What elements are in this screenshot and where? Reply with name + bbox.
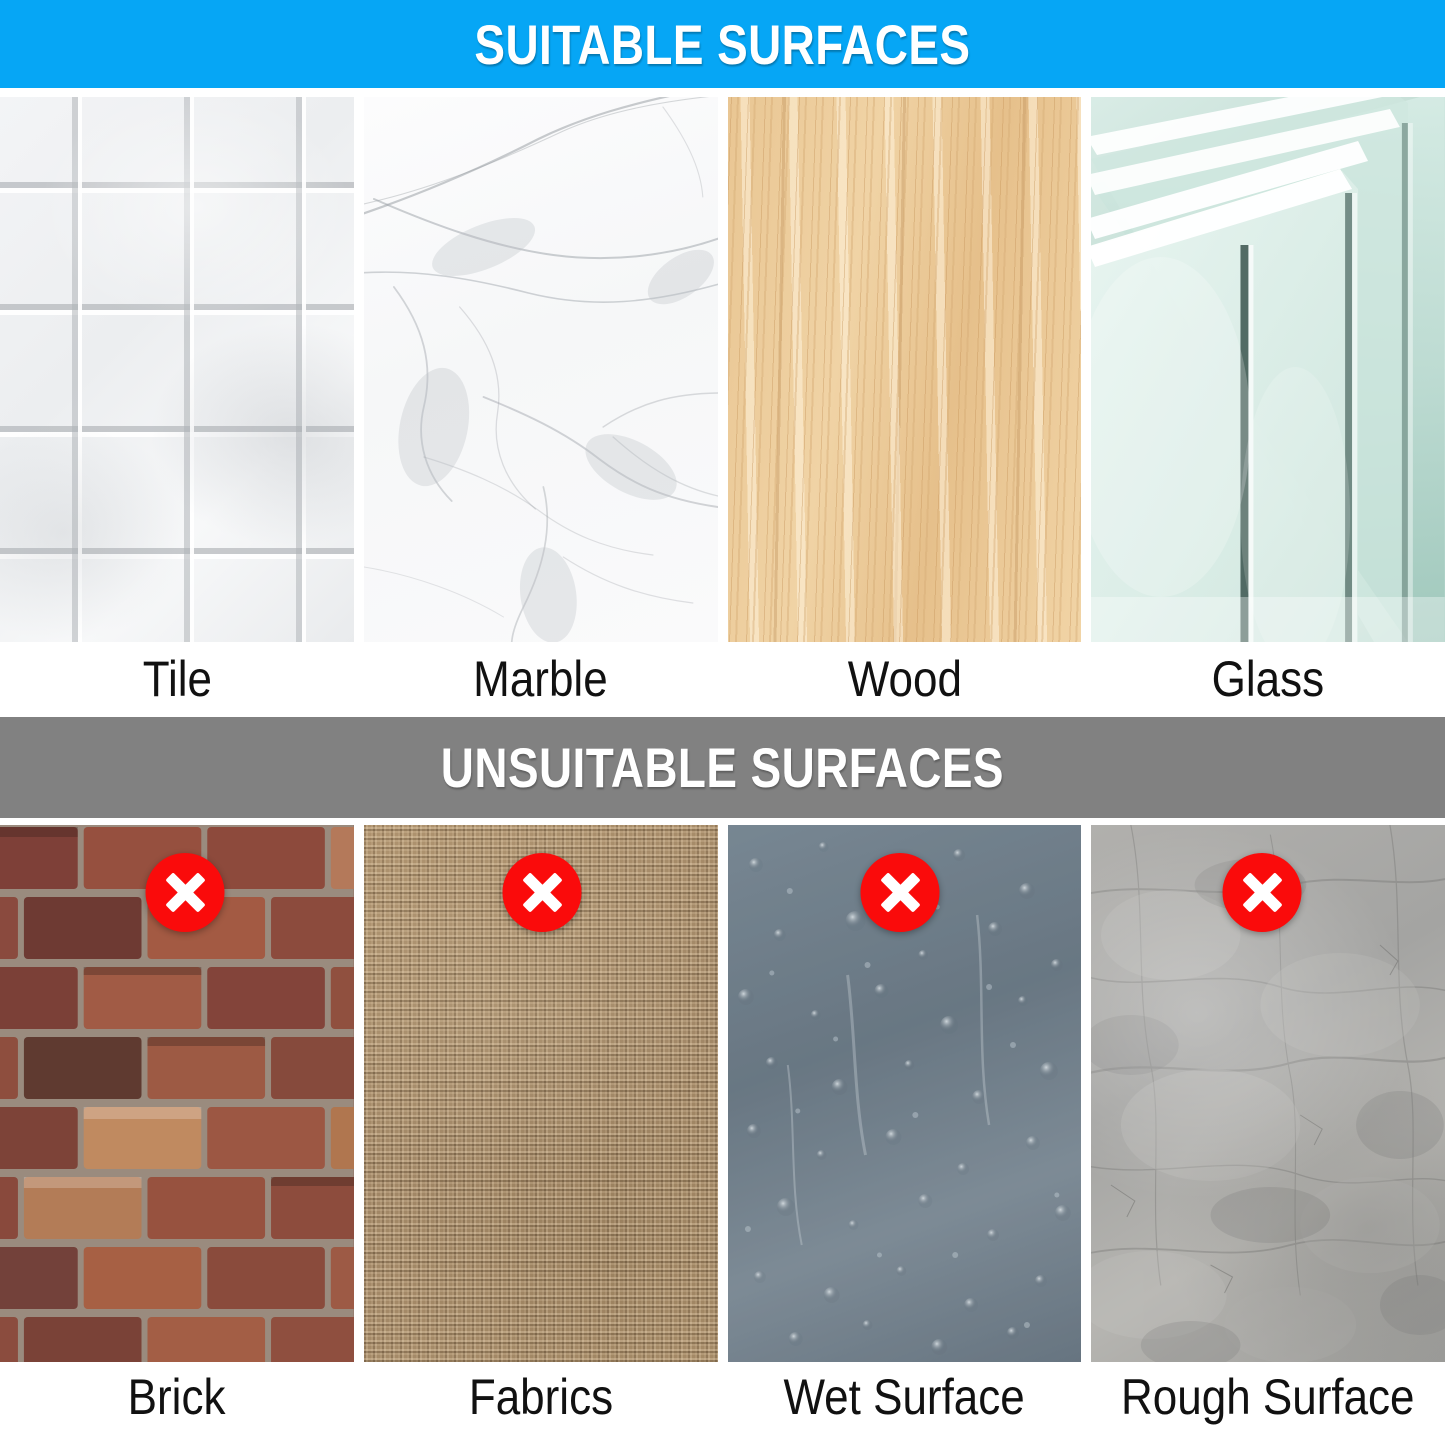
glass-panes: [1091, 97, 1445, 642]
label-text: Marble: [473, 654, 608, 704]
marble-veins: [364, 97, 718, 642]
x-mark-icon-fabrics: [503, 853, 582, 932]
label-text: Fabrics: [468, 1372, 612, 1422]
surface-label-marble: Marble: [364, 645, 718, 713]
label-text: Wood: [847, 654, 961, 704]
unsuitable-banner-title: UNSUITABLE SURFACES: [441, 735, 1004, 800]
surface-label-wood: Wood: [728, 645, 1082, 713]
suitable-image-row: [0, 97, 1445, 642]
suitable-label-row: Tile Marble Wood Glass: [0, 645, 1445, 713]
label-text: Glass: [1212, 654, 1324, 704]
surface-label-fabrics: Fabrics: [364, 1364, 718, 1430]
surface-image-wood: [728, 97, 1082, 642]
tile-shading: [0, 97, 354, 642]
surface-image-tile: [0, 97, 354, 642]
surface-label-tile: Tile: [0, 645, 354, 713]
label-text: Wet Surface: [784, 1372, 1025, 1422]
label-text: Rough Surface: [1121, 1372, 1415, 1422]
label-text: Tile: [142, 654, 211, 704]
suitable-banner-title: SUITABLE SURFACES: [475, 12, 971, 77]
x-mark-icon-brick: [146, 853, 225, 932]
x-mark-icon-wet-surface: [861, 853, 940, 932]
surface-label-wet-surface: Wet Surface: [728, 1364, 1082, 1430]
surface-label-glass: Glass: [1091, 645, 1445, 713]
unsuitable-label-row: Brick Fabrics Wet Surface Rough Surface: [0, 1364, 1445, 1430]
surface-label-rough-surface: Rough Surface: [1091, 1364, 1445, 1430]
suitable-surfaces-infographic: SUITABLE SURFACES: [0, 0, 1445, 1433]
unsuitable-banner: UNSUITABLE SURFACES: [0, 717, 1445, 818]
label-text: Brick: [128, 1372, 226, 1422]
surface-image-glass: [1091, 97, 1445, 642]
surface-image-marble: [364, 97, 718, 642]
surface-label-brick: Brick: [0, 1364, 354, 1430]
x-mark-icon-rough-surface: [1223, 853, 1302, 932]
suitable-banner: SUITABLE SURFACES: [0, 0, 1445, 88]
